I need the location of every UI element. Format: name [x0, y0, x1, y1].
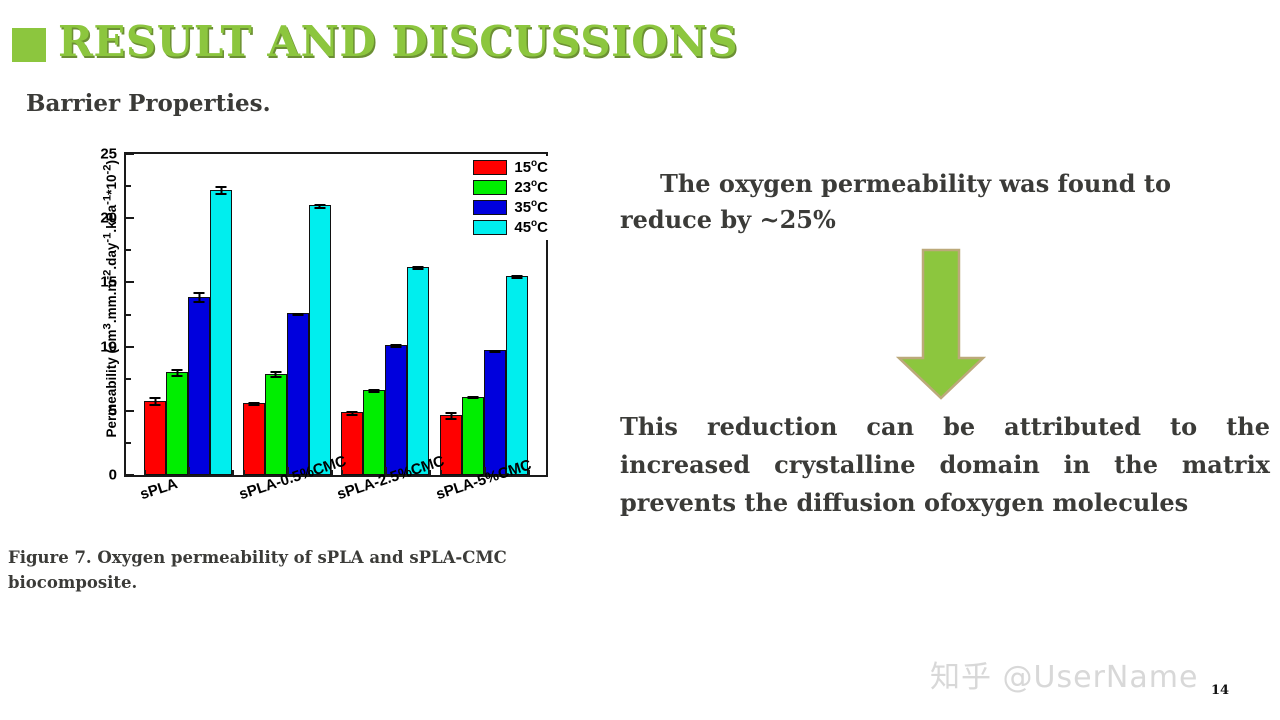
y-tick-label: 15 — [100, 274, 117, 291]
legend-swatch — [473, 180, 507, 195]
legend-item: 45oC — [473, 218, 548, 236]
error-bar — [347, 411, 358, 416]
chart-bar — [166, 372, 188, 475]
legend-label: 45oC — [514, 218, 548, 236]
chart-bar — [484, 350, 506, 475]
error-bar — [369, 389, 380, 393]
slide-title-bar: RESULT AND DISCUSSIONS — [0, 14, 1280, 70]
x-tick — [188, 467, 190, 475]
error-bar — [194, 292, 205, 302]
chart-bar — [144, 401, 166, 475]
chart-bar — [462, 397, 484, 475]
error-bar — [413, 266, 424, 269]
y-tick-label: 0 — [109, 467, 117, 484]
y-tick-major — [126, 281, 134, 283]
x-tick — [232, 470, 234, 475]
y-tick-major — [126, 217, 134, 219]
x-tick — [243, 470, 245, 475]
callout-bottom-line3: prevents the diffusion ofoxygen molecule… — [620, 484, 1270, 522]
y-tick-label: 25 — [100, 146, 117, 163]
y-tick-minor — [126, 378, 131, 380]
oxygen-permeability-chart: Permeability (cm3.mm.m-2.day-1.kPa-1*10-… — [56, 142, 566, 532]
error-bar — [468, 396, 479, 399]
chart-bar — [506, 276, 528, 475]
figure-caption: Figure 7. Oxygen permeability of sPLA an… — [8, 545, 608, 595]
error-bar — [216, 186, 227, 195]
page-title: RESULT AND DISCUSSIONS — [58, 14, 738, 70]
arrow-down-icon — [893, 248, 989, 400]
callout-bottom-line1: This reduction can be attributed to the — [620, 408, 1270, 446]
legend-label: 35oC — [514, 198, 548, 216]
chart-bar — [243, 403, 265, 475]
chart-bar — [210, 190, 232, 475]
error-bar — [490, 350, 501, 353]
y-tick-minor — [126, 185, 131, 187]
legend-swatch — [473, 160, 507, 175]
legend-swatch — [473, 200, 507, 215]
chart-bar — [309, 205, 331, 475]
callout-top-line2: reduce by ~25% — [620, 205, 836, 234]
error-bar — [292, 313, 303, 316]
callout-bottom-line2: increased crystalline domain in the matr… — [620, 446, 1270, 484]
legend-item: 35oC — [473, 198, 548, 216]
error-bar — [270, 371, 281, 377]
watermark: 知乎 @UserName — [930, 652, 1198, 696]
y-tick-major — [126, 410, 134, 412]
y-tick-minor — [126, 249, 131, 251]
x-category-label: sPLA — [138, 475, 180, 503]
y-tick-minor — [126, 314, 131, 316]
error-bar — [248, 402, 259, 406]
error-bar — [314, 204, 325, 209]
chart-bar — [363, 390, 385, 475]
error-bar — [446, 412, 457, 420]
y-tick-label: 5 — [109, 402, 117, 419]
callout-top-line1: The oxygen permeability was found to — [620, 166, 1265, 202]
section-subheading: Barrier Properties. — [26, 90, 271, 117]
chart-bar — [407, 267, 429, 475]
y-tick-label: 10 — [100, 338, 117, 355]
chart-bar — [385, 345, 407, 475]
y-tick-label: 20 — [100, 210, 117, 227]
legend-label: 15oC — [514, 158, 548, 176]
x-tick — [440, 470, 442, 475]
callout-top: The oxygen permeability was found to red… — [620, 166, 1265, 238]
bar-group — [243, 154, 331, 475]
bar-group — [341, 154, 429, 475]
legend-label: 23oC — [514, 178, 548, 196]
legend-item: 23oC — [473, 178, 548, 196]
page-number: 14 — [1211, 683, 1229, 698]
error-bar — [391, 344, 402, 348]
y-tick-major — [126, 474, 134, 476]
legend-swatch — [473, 220, 507, 235]
callout-bottom: This reduction can be attributed to the … — [620, 408, 1270, 522]
chart-bar — [188, 297, 210, 475]
title-bullet-square — [12, 28, 46, 62]
y-tick-major — [126, 153, 134, 155]
y-tick-minor — [126, 442, 131, 444]
legend-item: 15oC — [473, 158, 548, 176]
error-bar — [172, 369, 183, 377]
y-tick-major — [126, 346, 134, 348]
chart-legend: 15oC23oC35oC45oC — [469, 156, 552, 240]
bar-group — [144, 154, 232, 475]
chart-bar — [287, 313, 309, 475]
error-bar — [512, 275, 523, 278]
error-bar — [150, 397, 161, 406]
x-tick — [144, 470, 146, 475]
chart-bar — [265, 374, 287, 475]
